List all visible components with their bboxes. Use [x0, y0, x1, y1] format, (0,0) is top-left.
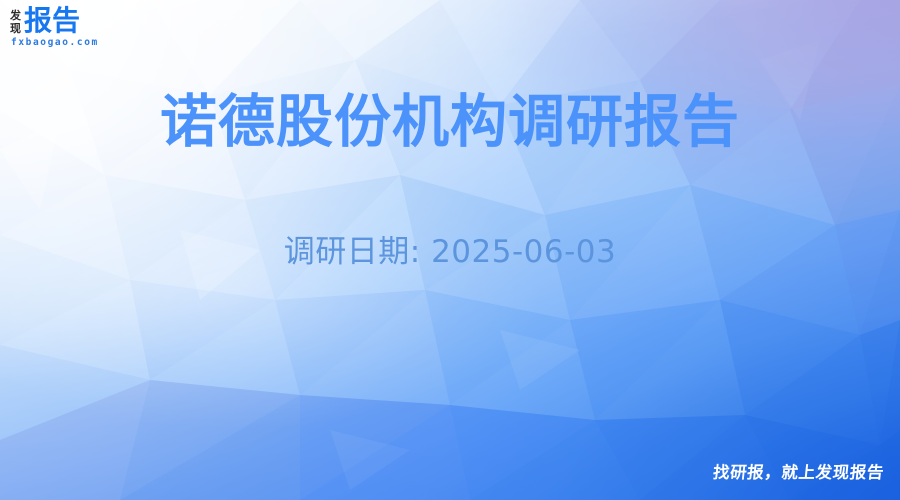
brand-mark-stack: 发 现 — [10, 7, 21, 35]
report-cover-slide: 发 现 报告 fxbaogao.com 诺德股份机构调研报告 调研日期: 202… — [0, 0, 900, 500]
brand-wordmark: 报告 — [24, 7, 80, 35]
brand-logo[interactable]: 发 现 报告 fxbaogao.com — [10, 7, 99, 48]
brand-mark-top-char: 发 — [10, 9, 21, 22]
brand-mark-bottom-char: 现 — [10, 22, 21, 35]
subtitle-zone: 调研日期: 2025-06-03 — [0, 232, 900, 272]
title-zone: 诺德股份机构调研报告 — [0, 86, 900, 158]
footer-tagline: 找研报，就上发现报告 — [712, 463, 885, 483]
brand-logo-row: 发 现 报告 — [10, 7, 80, 35]
page-title: 诺德股份机构调研报告 — [0, 86, 900, 158]
survey-date-label: 调研日期: 2025-06-03 — [0, 232, 900, 272]
brand-url: fxbaogao.com — [11, 38, 99, 48]
